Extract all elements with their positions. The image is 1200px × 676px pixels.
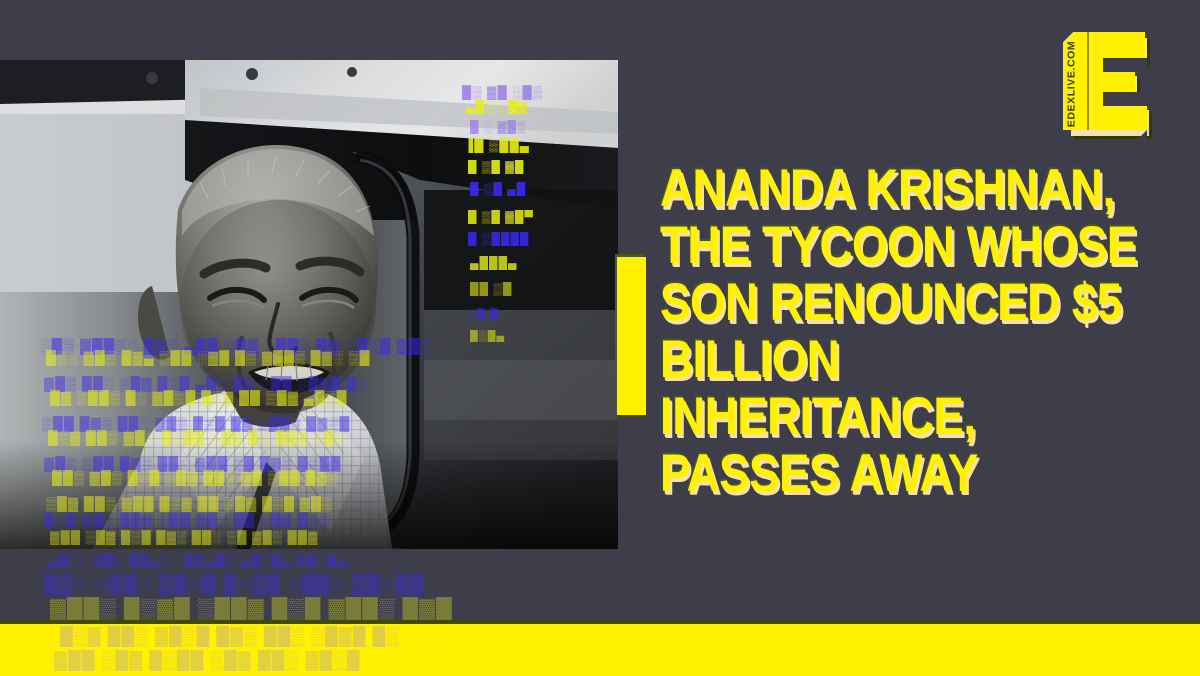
- social-card: █▒ ▓█ ░█▒▄█▒░ █▓█ ░ ▓█▒▐█ ▒██▄█ ▒█ ▓██ ▒…: [0, 0, 1200, 676]
- portrait-illustration: [0, 60, 618, 549]
- accent-bar: [617, 257, 646, 415]
- headline-line-2: THE TYCOON WHOSE: [660, 217, 1064, 274]
- logo-url-text: EDEXLIVE.COM: [1064, 38, 1078, 130]
- headline-line-3: SON RENOUNCED $5: [660, 274, 1064, 331]
- headline-line-6: PASSES AWAY: [660, 445, 1064, 502]
- glitch-overlay-lower: ▄█▒░ ▓█▒ ██▄▒ ░█▓▄█▒ ▄█▒█▄ ▓█▒█▄█▓▒ ▒██░…: [0, 549, 618, 629]
- glitch-text-fragment: ▄█▒░ ▓█▒ ██▄▒ ░█▓▄█▒ ▄█▒█▄ ▓█▒█▄: [48, 553, 348, 568]
- edexlive-logo[interactable]: EDEXLIVE.COM: [1059, 28, 1155, 140]
- headline-line-4: BILLION: [660, 331, 1064, 388]
- glitch-text-fragment: ▓██ ▒█▓ █▒██ ▒█▓ ██▒ ▓█▒█: [54, 650, 361, 671]
- headline-line-1: ANANDA KRISHNAN,: [660, 160, 1064, 217]
- bottom-glitch-overlay: █▒▓ ██▒ ▓█▒█ █▓▒ ██▒ ▒█▓█ █▒▓██ ▒█▓ █▒██…: [0, 624, 620, 676]
- glitch-text-fragment: █▓▒ ▒██░ ▓█▒█ █▒▓█ ░██▒ ▓█▒██: [44, 573, 424, 595]
- headline-line-5: INHERITANCE,: [660, 388, 1064, 445]
- headline: ANANDA KRISHNAN, THE TYCOON WHOSE SON RE…: [660, 160, 1130, 502]
- glitch-text-fragment: █▒▓ ██▒ ▓█▒█ █▓▒ ██▒ ▒█▓█ █▒: [60, 626, 400, 647]
- portrait-photo: █▒ ▓█ ░█▒▄█▒░ █▓█ ░ ▓█▒▐█ ▒██▄█ ▒█ ▓██ ▒…: [0, 60, 618, 549]
- bottom-accent-strip: █▒▓ ██▒ ▓█▒█ █▓▒ ██▒ ▒█▓█ █▒▓██ ▒█▓ █▒██…: [0, 620, 1200, 676]
